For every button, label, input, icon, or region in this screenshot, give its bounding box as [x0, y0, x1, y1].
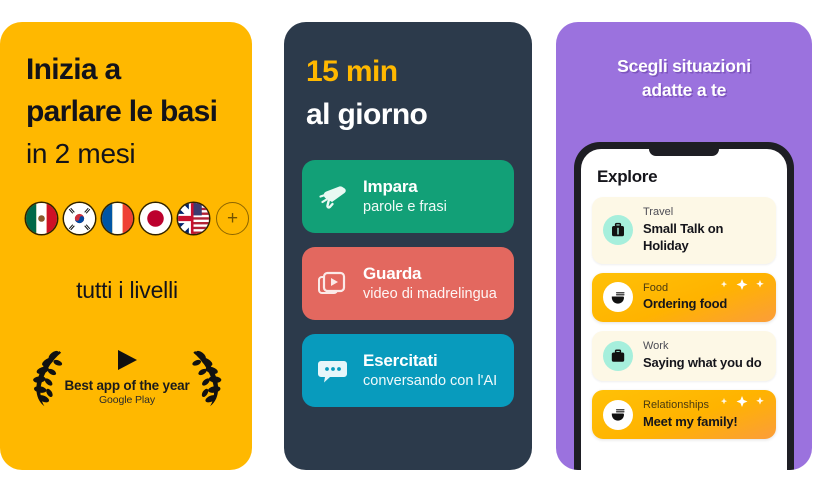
item-title: Meet my family!	[643, 414, 738, 431]
headline-line-2: adatte a te	[642, 80, 726, 100]
flag-uk-us-icon[interactable]	[178, 203, 209, 234]
headline-per-day: al giorno	[306, 97, 532, 133]
language-flag-row: +	[26, 202, 228, 235]
panel-learn-basics: Inizia a parlare le basi in 2 mesi	[0, 22, 252, 470]
list-item-food[interactable]: Food Ordering food	[592, 273, 776, 323]
headline-line-3: in 2 mesi	[26, 137, 228, 170]
flag-south-korea-icon[interactable]	[64, 203, 95, 234]
headline-line-1: Scegli situazioni	[617, 56, 751, 76]
feature-card-guarda[interactable]: Guarda video di madrelingua	[302, 247, 514, 320]
award-title: Best app of the year	[64, 378, 189, 393]
phone-notch	[649, 149, 719, 156]
headline-minutes: 15 min	[306, 54, 532, 90]
google-play-icon	[113, 348, 141, 372]
panel-situations: Scegli situazioni adatte a te Explore	[556, 22, 812, 470]
phone-mockup: Explore Travel Small Talk on H	[574, 142, 794, 470]
briefcase-icon	[603, 341, 633, 371]
sparkle-stars-icon	[716, 277, 768, 299]
flag-japan-icon[interactable]	[140, 203, 171, 234]
feature-card-esercitati[interactable]: Esercitati conversando con l'AI	[302, 334, 514, 407]
phone-screen: Explore Travel Small Talk on H	[581, 149, 787, 470]
left-headline: Inizia a parlare le basi in 2 mesi	[26, 52, 228, 170]
explore-list: Travel Small Talk on Holiday	[581, 187, 787, 439]
laurel-left-icon	[26, 340, 64, 414]
panel-daily-routine: 15 min al giorno Impara	[284, 22, 532, 470]
card-subtitle: video di madrelingua	[363, 286, 497, 303]
item-category: Work	[643, 340, 761, 354]
headline-line-1: Inizia a	[26, 52, 228, 87]
sparkle-stars-icon	[716, 394, 768, 416]
pointing-hand-icon	[316, 180, 350, 214]
middle-headline: 15 min al giorno	[284, 54, 532, 133]
video-play-icon	[316, 267, 350, 301]
item-category: Food	[643, 282, 727, 296]
ramen-bowl-icon	[603, 282, 633, 312]
ramen-bowl-icon	[603, 400, 633, 430]
levels-label: tutti i livelli	[26, 277, 228, 304]
add-language-button[interactable]: +	[216, 202, 249, 235]
feature-card-list: Impara parole e frasi Guarda v	[284, 160, 532, 407]
chat-bubble-icon	[316, 354, 350, 388]
card-subtitle: parole e frasi	[363, 199, 447, 216]
award-subtitle: Google Play	[99, 394, 155, 406]
screenshot-stage: Inizia a parlare le basi in 2 mesi	[0, 0, 819, 484]
item-title: Ordering food	[643, 296, 727, 313]
item-title: Small Talk on Holiday	[643, 221, 765, 255]
item-title: Saying what you do	[643, 355, 761, 372]
feature-card-impara[interactable]: Impara parole e frasi	[302, 160, 514, 233]
laurel-right-icon	[190, 340, 228, 414]
list-item-travel[interactable]: Travel Small Talk on Holiday	[592, 197, 776, 264]
card-title: Impara	[363, 177, 447, 197]
flag-france-icon[interactable]	[102, 203, 133, 234]
list-item-work[interactable]: Work Saying what you do	[592, 331, 776, 381]
card-subtitle: conversando con l'AI	[363, 373, 497, 390]
card-title: Esercitati	[363, 351, 497, 371]
suitcase-icon	[603, 215, 633, 245]
list-item-relationships[interactable]: Relationships Meet my family!	[592, 390, 776, 440]
flag-mexico-icon[interactable]	[26, 203, 57, 234]
award-badge: Best app of the year Google Play	[26, 340, 228, 414]
right-headline: Scegli situazioni adatte a te	[556, 22, 812, 102]
card-title: Guarda	[363, 264, 497, 284]
item-category: Travel	[643, 206, 765, 220]
headline-line-2: parlare le basi	[26, 94, 228, 129]
